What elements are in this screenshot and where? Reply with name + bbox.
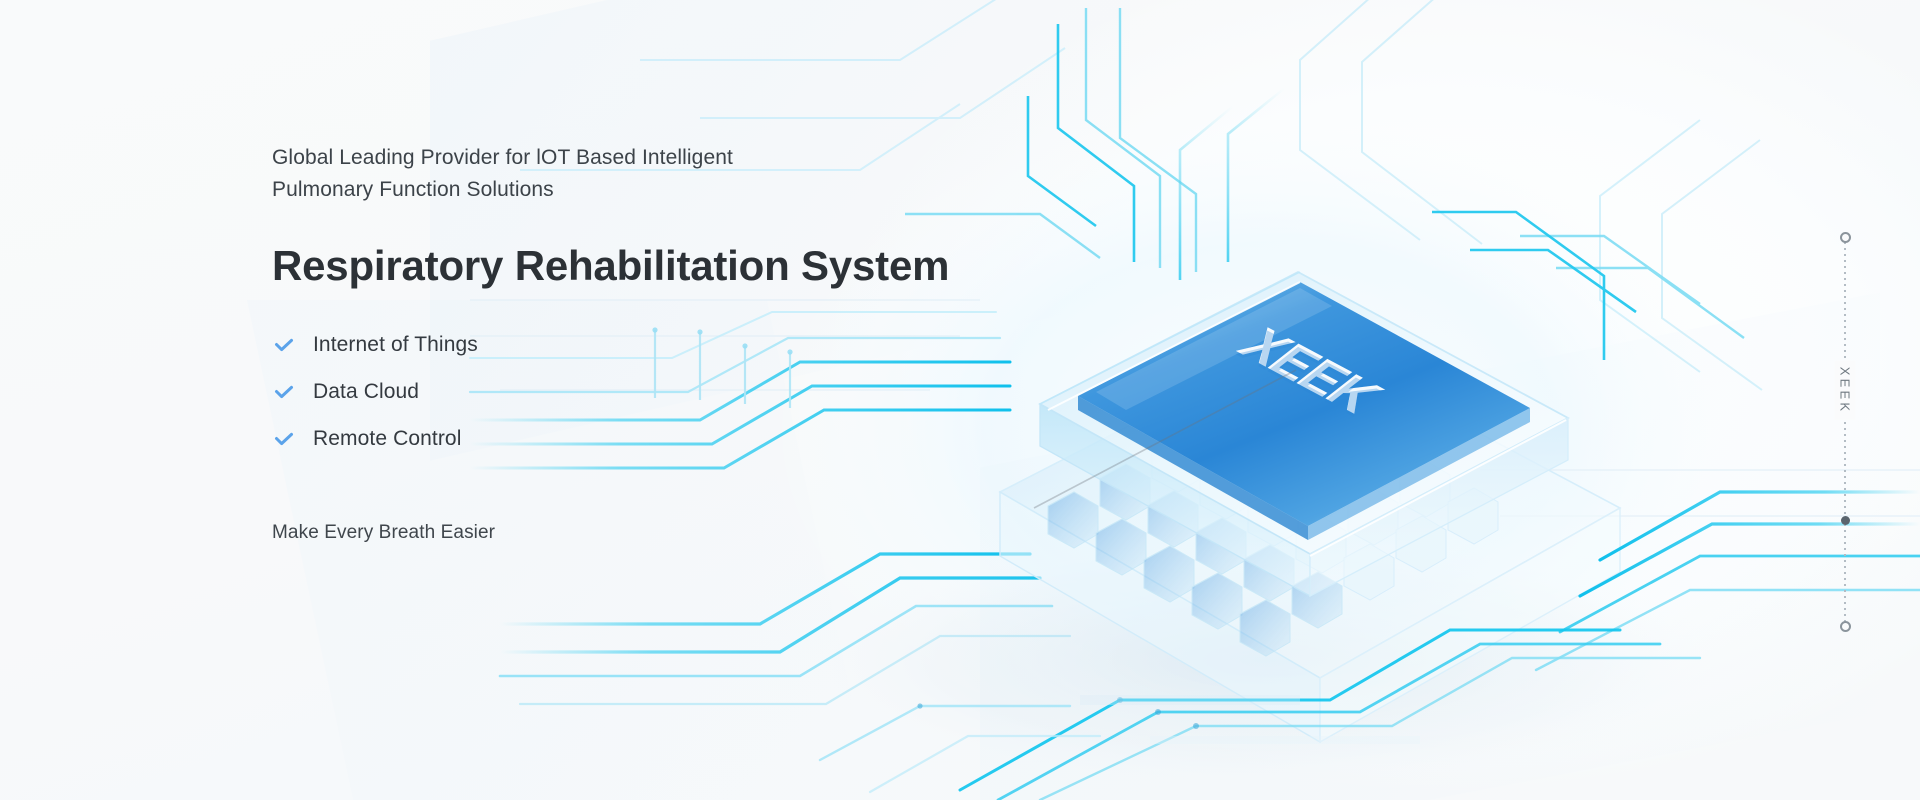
svg-text:XEEK: XEEK <box>1227 315 1393 426</box>
check-icon <box>272 333 296 357</box>
check-icon <box>272 380 296 404</box>
side-scroll-rail[interactable]: XEEK <box>1832 232 1858 632</box>
background-panel-wash <box>980 293 1880 800</box>
svg-text:XEEK: XEEK <box>1227 318 1393 429</box>
hero-eyebrow: Global Leading Provider for lOT Based In… <box>272 142 792 206</box>
list-item: Data Cloud <box>272 380 1032 404</box>
circle-filled-icon[interactable] <box>1841 516 1850 525</box>
check-icon <box>272 427 296 451</box>
chip-substrate-top <box>1000 338 1620 678</box>
list-item: Remote Control <box>272 427 1032 451</box>
circle-outline-icon[interactable] <box>1840 232 1851 243</box>
feature-label: Data Cloud <box>313 380 419 404</box>
hero-tagline: Make Every Breath Easier <box>272 522 1032 544</box>
brand-label-xeek: XEEK <box>1835 361 1856 420</box>
feature-label: Internet of Things <box>313 333 478 357</box>
feature-label: Remote Control <box>313 427 461 451</box>
chip-package-collar <box>1040 272 1568 554</box>
feature-list: Internet of Things Data Cloud Remote Con… <box>272 333 1032 451</box>
list-item: Internet of Things <box>272 333 1032 357</box>
hero-content: Global Leading Provider for lOT Based In… <box>272 142 1032 544</box>
page-title: Respiratory Rehabilitation System <box>272 242 1032 289</box>
rail-dotted-line <box>1844 242 1846 622</box>
hero-banner: XEEK XEEK <box>0 0 1920 800</box>
chip-logo-xeek: XEEK XEEK <box>1225 315 1395 430</box>
chip-die-top <box>1078 282 1530 526</box>
circle-outline-icon[interactable] <box>1840 621 1851 632</box>
